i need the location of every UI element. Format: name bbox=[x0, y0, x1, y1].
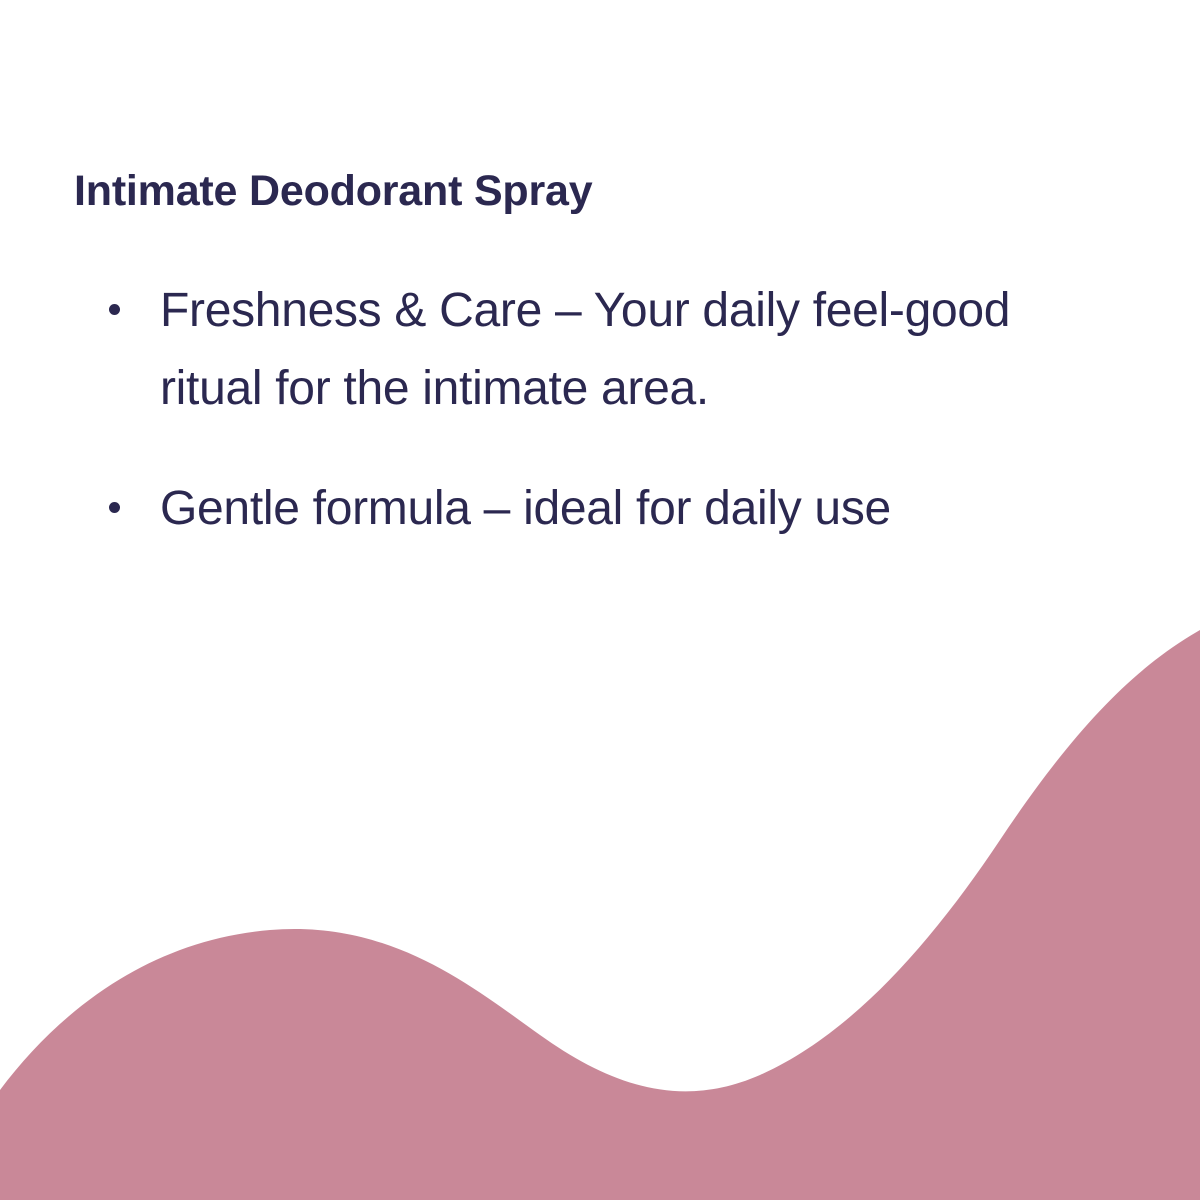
pink-wave-shape bbox=[0, 630, 1200, 1200]
grey-wave-shape bbox=[940, 760, 1200, 1200]
bullet-text: Freshness & Care – Your daily feel-good … bbox=[160, 272, 1120, 428]
bullet-dot-icon bbox=[109, 502, 120, 513]
feature-bullet-list: Freshness & Care – Your daily feel-good … bbox=[100, 272, 1120, 589]
list-item: Gentle formula – ideal for daily use bbox=[100, 470, 1120, 548]
bullet-text: Gentle formula – ideal for daily use bbox=[160, 470, 1120, 548]
list-item: Freshness & Care – Your daily feel-good … bbox=[100, 272, 1120, 428]
product-slide: Intimate Deodorant Spray Freshness & Car… bbox=[0, 0, 1200, 1200]
bullet-dot-icon bbox=[109, 304, 120, 315]
page-title: Intimate Deodorant Spray bbox=[74, 167, 592, 216]
